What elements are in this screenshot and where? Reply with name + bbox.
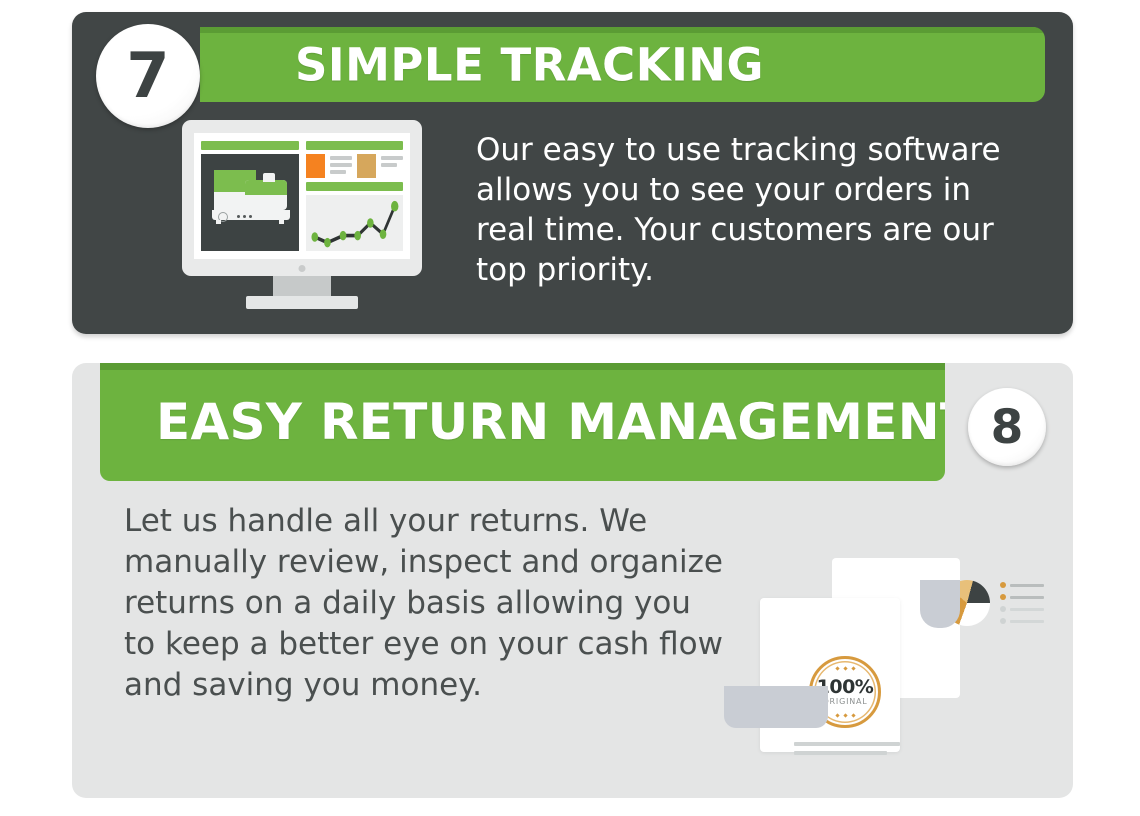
section-card-easy-return-management: EASY RETURN MANAGEMENT 8 Let us handle a… <box>72 363 1073 798</box>
product-jar-shape <box>245 180 287 210</box>
bullet-icon <box>1000 594 1006 600</box>
section-header-banner-8: EASY RETURN MANAGEMENT <box>100 363 945 481</box>
dashboard-info-row-1 <box>306 154 404 178</box>
list-item <box>1000 606 1044 612</box>
list-line <box>1010 620 1044 623</box>
bullet-icon <box>1000 618 1006 624</box>
text-line <box>381 163 397 167</box>
monitor-screen <box>194 133 410 259</box>
step-number-label-7: 7 <box>126 45 169 107</box>
list-item <box>1000 618 1044 624</box>
section-header-banner-7: SIMPLE TRACKING <box>200 27 1045 102</box>
text-line <box>794 751 887 755</box>
return-documents-illustration-icon: 100% ORIGINAL <box>742 558 1012 758</box>
product-foot-right <box>279 220 284 224</box>
bullet-icon <box>1000 582 1006 588</box>
document-back-curl-right <box>920 580 960 628</box>
section-title-7: SIMPLE TRACKING <box>295 42 764 87</box>
dashboard-right-column <box>306 141 404 251</box>
monitor-stand-base <box>246 296 358 309</box>
info-text-lines-2 <box>381 154 403 167</box>
dashboard-left-column <box>201 141 299 251</box>
document-back-list <box>1000 582 1044 624</box>
document-front-curl <box>724 686 828 728</box>
list-line <box>1010 596 1044 599</box>
seal-word-label: ORIGINAL <box>822 698 867 706</box>
step-number-label-8: 8 <box>991 404 1024 451</box>
dashboard-section-bar-bottom <box>306 182 404 191</box>
product-button-dots <box>237 215 252 218</box>
text-line <box>381 156 403 160</box>
list-item <box>1000 582 1044 588</box>
list-line <box>1010 584 1044 587</box>
swatch-orange <box>306 154 325 178</box>
product-foot-left <box>216 220 221 224</box>
monitor-bezel <box>182 120 422 276</box>
section-card-simple-tracking: SIMPLE TRACKING 7 <box>72 12 1073 334</box>
seal-stars-top <box>812 667 878 670</box>
section-body-text-7: Our easy to use tracking software allows… <box>476 130 1036 290</box>
document-front-text-lines <box>794 742 900 755</box>
section-body-text-8: Let us handle all your returns. We manua… <box>124 501 724 706</box>
document-front-sheet: 100% ORIGINAL <box>760 598 900 752</box>
step-number-badge-7: 7 <box>96 24 200 128</box>
section-title-8: EASY RETURN MANAGEMENT <box>156 397 945 447</box>
list-item <box>1000 594 1044 600</box>
monitor-power-dot <box>299 265 306 272</box>
text-line <box>330 163 352 167</box>
line-chart-svg <box>306 195 404 251</box>
list-line <box>1010 608 1044 611</box>
swatch-tan <box>357 154 376 178</box>
monitor-illustration-icon <box>182 120 422 310</box>
dashboard-header-bar <box>201 141 299 150</box>
text-line <box>794 742 900 746</box>
info-text-lines-1 <box>330 154 352 174</box>
text-line <box>330 170 346 174</box>
dashboard-line-chart <box>306 195 404 251</box>
monitor-stand-neck <box>273 276 331 297</box>
product-thumbnail <box>201 154 299 251</box>
dashboard-section-bar-top <box>306 141 404 150</box>
text-line <box>330 156 352 160</box>
bullet-icon <box>1000 606 1006 612</box>
product-jar-lid-shape <box>263 173 275 182</box>
step-number-badge-8: 8 <box>968 388 1046 466</box>
